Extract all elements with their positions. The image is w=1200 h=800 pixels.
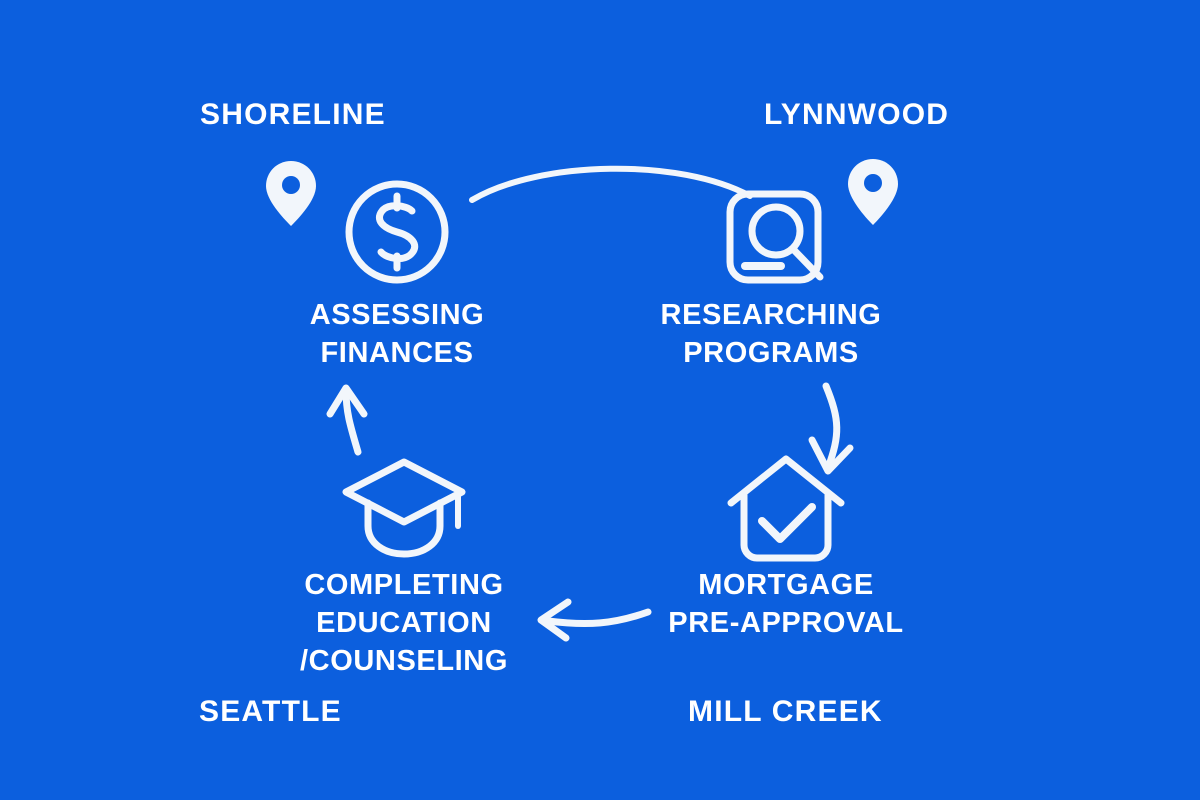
arrow-research-to-mortgage	[812, 386, 850, 471]
arrow-education-to-finances	[330, 388, 364, 452]
stage-label-completing-education-counseling: COMPLETING EDUCATION /COUNSELING	[244, 566, 564, 680]
stage-label-mortgage-pre-approval: MORTGAGE PRE-APPROVAL	[626, 566, 946, 642]
icons-layer	[0, 0, 1200, 800]
document-search-icon	[730, 194, 820, 280]
stage-label-researching-programs: RESEARCHING PROGRAMS	[611, 296, 931, 372]
diagram-canvas: SHORELINE LYNNWOOD SEATTLE MILL CREEK AS…	[0, 0, 1200, 800]
house-check-icon	[731, 459, 841, 558]
graduation-cap-icon	[346, 462, 462, 554]
stage-label-assessing-finances: ASSESSING FINANCES	[237, 296, 557, 372]
city-label-shoreline: SHORELINE	[200, 98, 386, 132]
city-label-seattle: SEATTLE	[199, 695, 342, 729]
map-pin-icon	[848, 159, 898, 225]
arc-finances-to-research	[472, 169, 750, 200]
dollar-circle-icon	[349, 184, 445, 280]
connectors-layer	[0, 0, 1200, 800]
map-pin-icon	[266, 161, 316, 226]
city-label-lynnwood: LYNNWOOD	[764, 98, 949, 132]
city-label-mill-creek: MILL CREEK	[688, 695, 883, 729]
